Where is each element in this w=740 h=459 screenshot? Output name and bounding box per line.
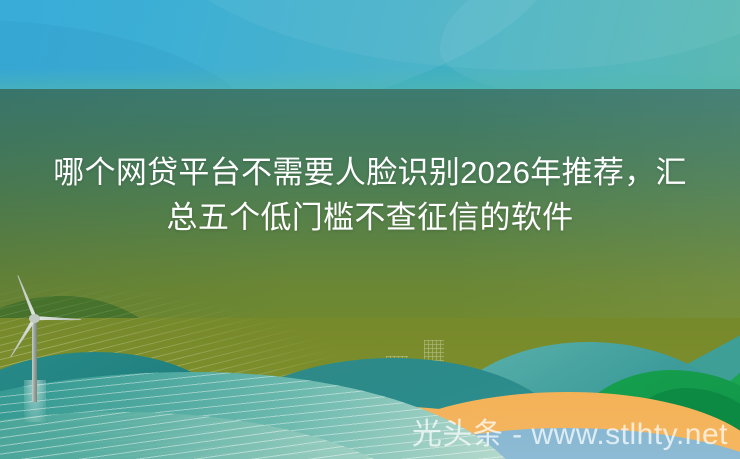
turbine-hub <box>29 314 40 323</box>
wind-turbine-icon <box>2 292 94 402</box>
turbine-mast <box>32 318 37 402</box>
turbine-blade <box>35 316 81 322</box>
site-watermark: 光头条 - www.stlhty.net <box>0 417 740 453</box>
banner-image: 哪个网贷平台不需要人脸识别2026年推荐，汇总五个低门槛不查征信的软件 光头条 … <box>0 0 740 459</box>
page-title: 哪个网贷平台不需要人脸识别2026年推荐，汇总五个低门槛不查征信的软件 <box>0 150 740 240</box>
